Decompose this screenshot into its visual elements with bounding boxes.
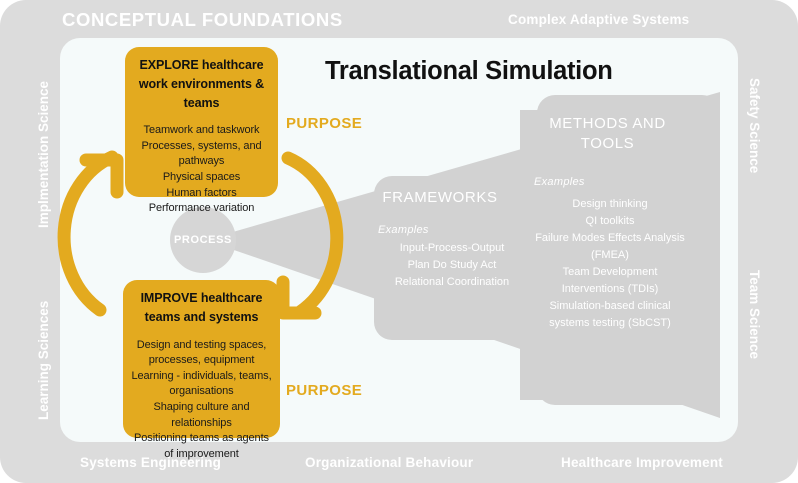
purpose-label-bottom: PURPOSE [286, 382, 362, 399]
learning-sciences-label: Learning Sciences [36, 301, 51, 420]
diagram-canvas: CONCEPTUAL FOUNDATIONS Complex Adaptive … [0, 0, 798, 483]
methods-example-list: Design thinkingQI toolkitsFailure Modes … [530, 196, 690, 332]
improve-box-title: IMPROVE healthcare teams and systems [131, 289, 272, 327]
improve-box: IMPROVE healthcare teams and systems Des… [123, 280, 280, 438]
team-science-label: Team Science [747, 270, 762, 359]
healthcare-improvement-label: Healthcare Improvement [561, 455, 723, 470]
organizational-behaviour-label: Organizational Behaviour [305, 455, 473, 470]
improve-box-items: Design and testing spaces, processes, eq… [131, 338, 272, 463]
implementation-science-label: Implmentation Science [36, 81, 51, 228]
conceptual-foundations-label: CONCEPTUAL FOUNDATIONS [62, 9, 343, 31]
explore-box-title: EXPLORE healthcare work environments & t… [133, 56, 270, 112]
frameworks-examples-label: Examples [378, 224, 429, 236]
purpose-label-top: PURPOSE [286, 115, 362, 132]
safety-science-label: Safety Science [747, 78, 762, 173]
complex-adaptive-systems-label: Complex Adaptive Systems [508, 12, 689, 27]
explore-box-items: Teamwork and taskworkProcesses, systems,… [133, 123, 270, 217]
explore-box: EXPLORE healthcare work environments & t… [125, 47, 278, 197]
methods-and-tools-heading: METHODS AND TOOLS [535, 114, 680, 155]
frameworks-heading: FRAMEWORKS [370, 188, 510, 208]
frameworks-example-list: Input-Process-OutputPlan Do Study ActRel… [382, 240, 522, 291]
page-title: Translational Simulation [325, 57, 613, 86]
methods-examples-label: Examples [534, 176, 585, 188]
process-label: PROCESS [174, 234, 232, 246]
